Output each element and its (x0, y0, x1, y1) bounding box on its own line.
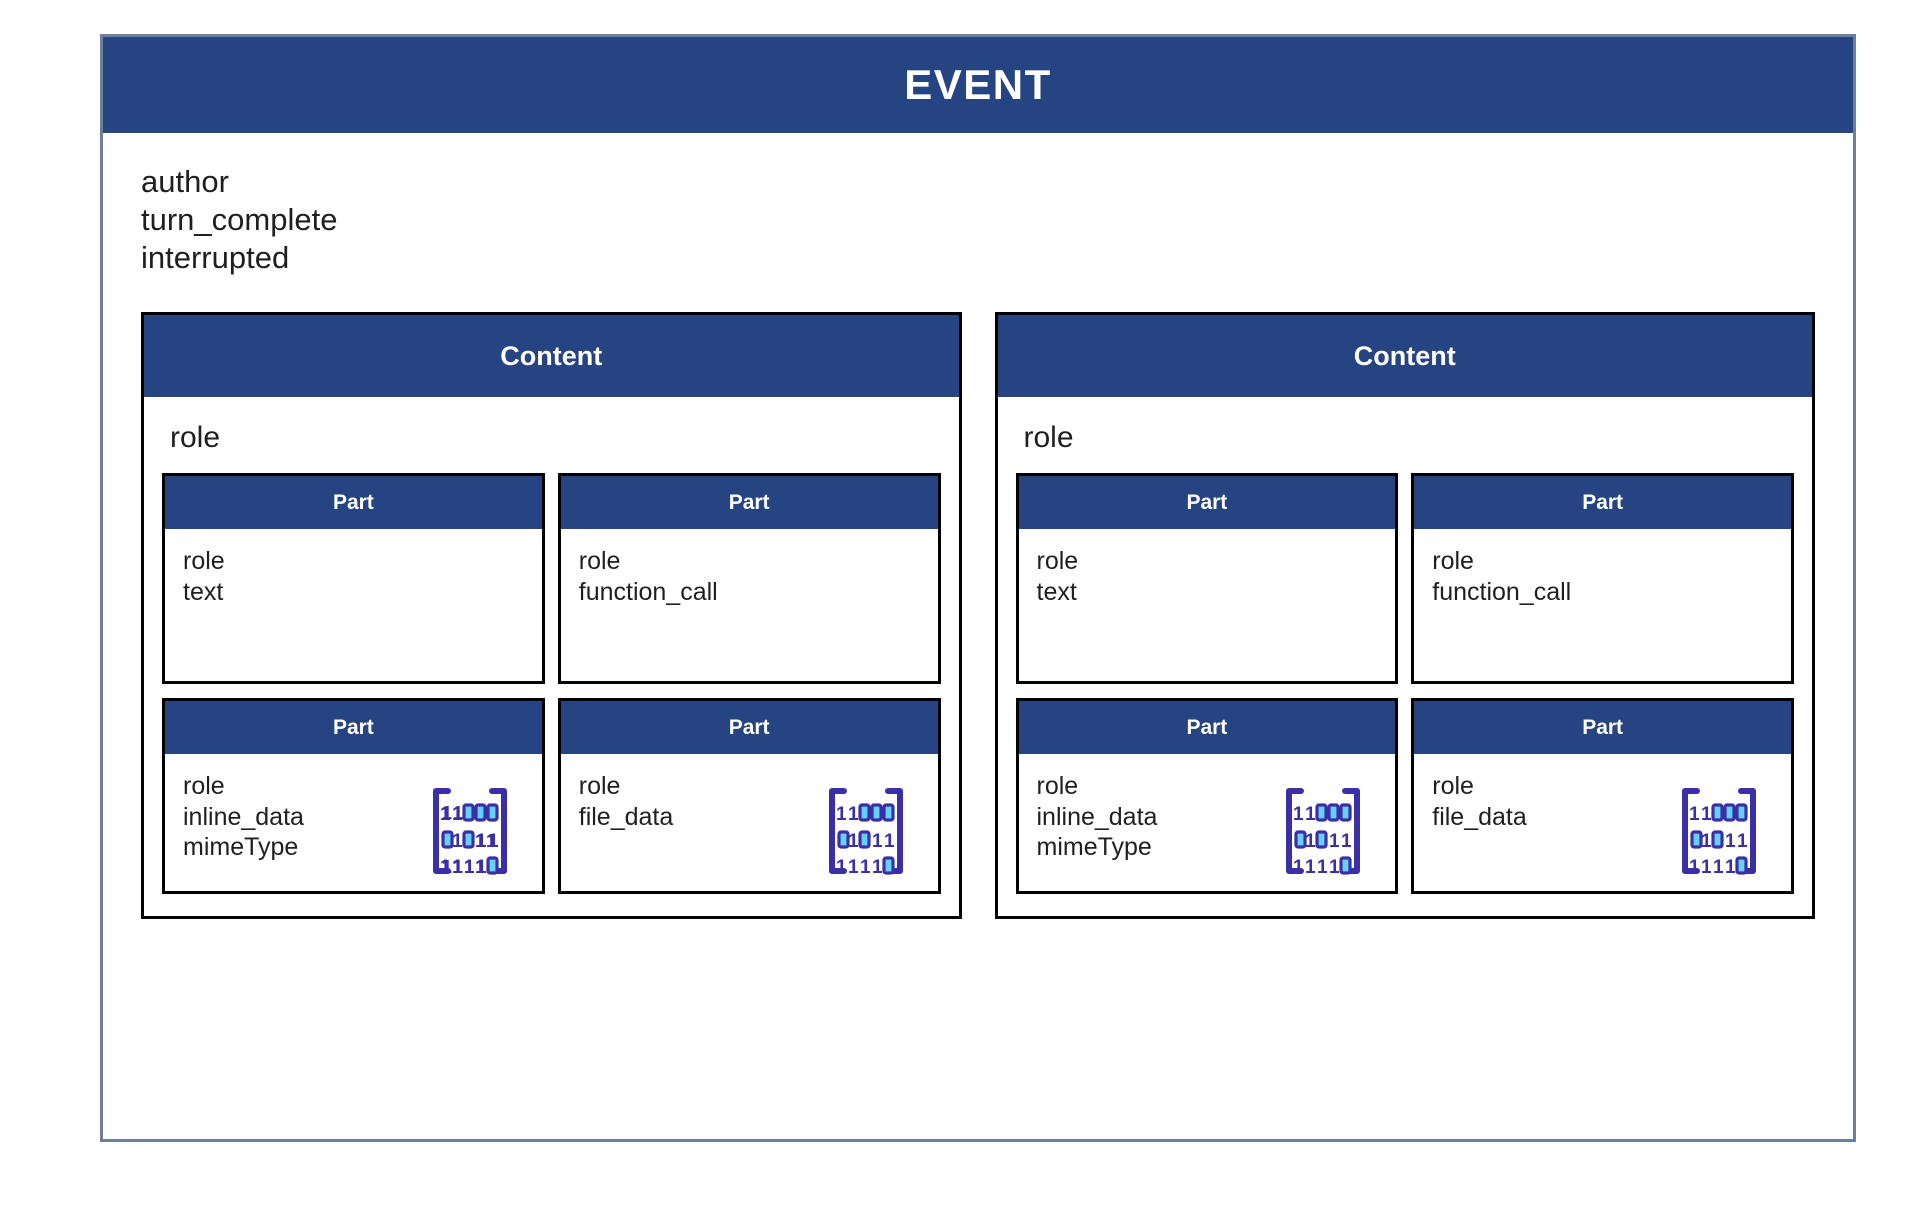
svg-text:1: 1 (1293, 857, 1304, 877)
content-body: role Part role text (144, 397, 959, 916)
part-body: role function_call (1414, 529, 1791, 681)
part-box: Part role file_data (558, 698, 941, 894)
part-header: Part (561, 701, 938, 754)
part-box: Part role text (162, 473, 545, 684)
svg-text:1: 1 (476, 831, 487, 852)
part-title: Part (333, 491, 374, 515)
content-title: Content (1354, 341, 1456, 372)
svg-text:1: 1 (1689, 857, 1700, 877)
svg-text:1: 1 (464, 857, 475, 877)
part-body: role file_data (1414, 754, 1791, 891)
svg-text:1: 1 (872, 857, 883, 877)
part-header: Part (1019, 701, 1396, 754)
part-body: role text (1019, 529, 1396, 681)
svg-text:1: 1 (848, 831, 859, 852)
part-title: Part (1186, 491, 1227, 515)
part-box: Part role inline_data mimeType (162, 698, 545, 894)
event-title: EVENT (904, 61, 1052, 109)
part-field-list: role text (1037, 546, 1079, 607)
part-field-list: role inline_data mimeType (1037, 771, 1158, 863)
svg-text:1: 1 (1293, 804, 1304, 825)
binary-data-icon: 11 1 0 1 11 11 (428, 785, 512, 877)
svg-text:1: 1 (1701, 857, 1712, 877)
svg-text:1: 1 (488, 831, 499, 852)
event-frame: EVENT author turn_complete interrupted C… (100, 34, 1856, 1142)
part-box: Part role function_call (1411, 473, 1794, 684)
part-box: Part role function_call (558, 473, 941, 684)
svg-text:1: 1 (452, 857, 463, 877)
svg-text:1: 1 (872, 831, 883, 852)
part-field-list: role text (183, 546, 225, 607)
part-field-type: function_call (579, 577, 718, 608)
event-field-list: author turn_complete interrupted (141, 163, 1815, 276)
svg-text:1: 1 (836, 857, 847, 877)
svg-text:1: 1 (452, 804, 463, 825)
content-body: role Part role text (998, 397, 1813, 916)
diagram-canvas: EVENT author turn_complete interrupted C… (0, 0, 1920, 1208)
part-body: role inline_data mimeType (1019, 754, 1396, 891)
part-body: role file_data (561, 754, 938, 891)
svg-text:1: 1 (452, 831, 463, 852)
content-panel: Content role Part (141, 312, 962, 919)
svg-text:1: 1 (1701, 804, 1712, 825)
part-field-list: role file_data (579, 771, 674, 832)
content-role-label: role (1024, 421, 1795, 455)
part-field-type: text (183, 577, 225, 608)
part-field-role: role (183, 546, 225, 577)
part-title: Part (729, 716, 770, 740)
content-panels-row: Content role Part (141, 312, 1815, 919)
part-box: Part role inline_data mimeType (1016, 698, 1399, 894)
part-field-type: file_data (1432, 802, 1527, 833)
svg-text:1: 1 (860, 857, 871, 877)
content-title: Content (500, 341, 602, 372)
svg-text:1: 1 (1689, 804, 1700, 825)
part-body: role text (165, 529, 542, 681)
part-field-list: role function_call (579, 546, 718, 607)
svg-text:1: 1 (1305, 857, 1316, 877)
svg-text:1: 1 (1701, 831, 1712, 852)
svg-text:1: 1 (476, 857, 487, 877)
event-field-turn-complete: turn_complete (141, 201, 1815, 239)
event-body: author turn_complete interrupted Content… (103, 133, 1853, 1139)
part-field-mimetype: mimeType (1037, 832, 1158, 863)
part-title: Part (1582, 716, 1623, 740)
parts-grid: Part role text (162, 473, 941, 894)
part-field-type: text (1037, 577, 1079, 608)
part-field-mimetype: mimeType (183, 832, 304, 863)
content-role-label: role (170, 421, 941, 455)
part-field-role: role (1037, 546, 1079, 577)
part-title: Part (729, 491, 770, 515)
content-panel: Content role Part (995, 312, 1816, 919)
part-body: role function_call (561, 529, 938, 681)
part-title: Part (1582, 491, 1623, 515)
part-header: Part (1414, 476, 1791, 529)
svg-text:1: 1 (1737, 831, 1748, 852)
part-field-type: file_data (579, 802, 674, 833)
svg-text:1: 1 (1713, 857, 1724, 877)
svg-text:1: 1 (1305, 804, 1316, 825)
svg-text:1: 1 (1317, 857, 1328, 877)
content-header: Content (998, 315, 1813, 397)
svg-text:1: 1 (848, 804, 859, 825)
binary-data-icon: 11 1 11 11 11 (1677, 785, 1761, 877)
svg-text:1: 1 (848, 857, 859, 877)
part-field-role: role (183, 771, 304, 802)
part-body: role inline_data mimeType (165, 754, 542, 891)
part-field-list: role file_data (1432, 771, 1527, 832)
part-field-role: role (1432, 771, 1527, 802)
part-box: Part role text (1016, 473, 1399, 684)
part-field-role: role (1037, 771, 1158, 802)
parts-grid: Part role text (1016, 473, 1795, 894)
part-header: Part (1019, 476, 1396, 529)
event-header: EVENT (103, 37, 1853, 133)
part-header: Part (165, 701, 542, 754)
binary-data-icon: 11 1 11 11 11 (1281, 785, 1365, 877)
part-field-list: role inline_data mimeType (183, 771, 304, 863)
svg-text:1: 1 (1341, 831, 1352, 852)
part-field-role: role (1432, 546, 1571, 577)
part-field-list: role function_call (1432, 546, 1571, 607)
svg-text:1: 1 (1329, 831, 1340, 852)
part-field-type: inline_data (183, 802, 304, 833)
svg-text:1: 1 (440, 804, 451, 825)
part-title: Part (333, 716, 374, 740)
svg-text:1: 1 (1725, 857, 1736, 877)
svg-text:1: 1 (884, 831, 895, 852)
svg-text:1: 1 (1305, 831, 1316, 852)
svg-text:1: 1 (836, 804, 847, 825)
part-header: Part (1414, 701, 1791, 754)
event-field-author: author (141, 163, 1815, 201)
svg-text:1: 1 (1329, 857, 1340, 877)
part-title: Part (1186, 716, 1227, 740)
part-box: Part role file_data (1411, 698, 1794, 894)
content-header: Content (144, 315, 959, 397)
binary-data-icon: 11 1 11 11 11 (824, 785, 908, 877)
part-field-role: role (579, 771, 674, 802)
part-header: Part (165, 476, 542, 529)
part-field-role: role (579, 546, 718, 577)
part-field-type: inline_data (1037, 802, 1158, 833)
svg-text:1: 1 (1725, 831, 1736, 852)
event-field-interrupted: interrupted (141, 239, 1815, 277)
part-header: Part (561, 476, 938, 529)
svg-text:1: 1 (440, 857, 451, 877)
part-field-type: function_call (1432, 577, 1571, 608)
